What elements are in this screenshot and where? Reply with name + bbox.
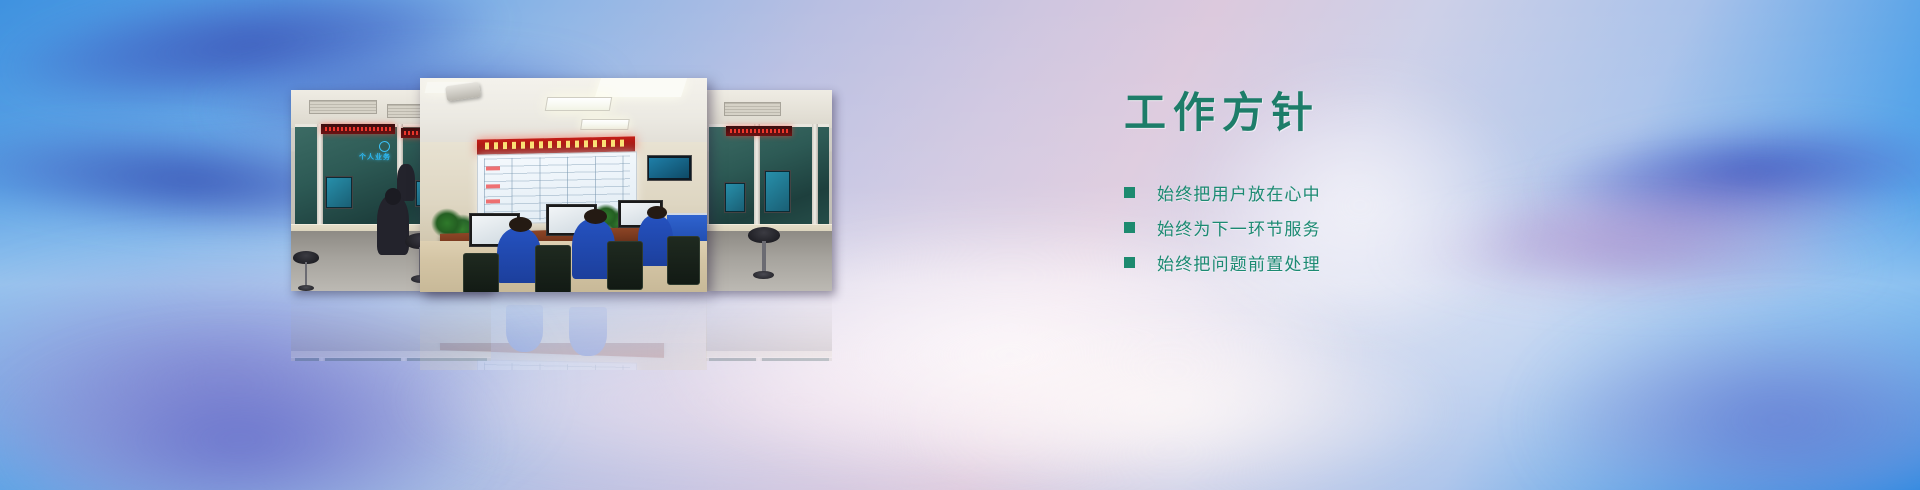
bank-counter-scene [706,90,832,291]
board-tag [486,166,500,170]
operator-head [509,217,532,232]
policy-text: 始终把问题前置处理 [1157,250,1321,275]
photo-dispatch-control-room[interactable] [420,78,707,292]
window-mullion [317,124,323,229]
bullet-square-icon [1124,257,1135,268]
hero-text-panel: 工作方针 始终把用户放在心中 始终为下一环节服务 始终把问题前置处理 [1124,92,1604,280]
control-room-scene [420,78,707,292]
customer-head [385,188,401,204]
window-mullion [754,124,760,229]
hero-banner: 个人业务 个人业务 [0,0,1920,490]
operator-head [647,206,667,219]
photo-bank-service-counter-right[interactable] [706,90,832,291]
photo-reflection-right [706,291,832,361]
policy-text: 始终为下一环节服务 [1157,215,1321,240]
ceiling-light-panel [580,119,629,130]
ceiling-vent [309,100,377,114]
office-chair [667,236,701,285]
wall-monitor [647,155,692,181]
teller-monitor [764,170,791,212]
photo-reflection-center [420,292,707,370]
board-tag [486,184,500,188]
policy-list: 始终把用户放在心中 始终为下一环节服务 始终把问题前置处理 [1124,175,1604,279]
list-item: 始终把用户放在心中 [1124,175,1604,209]
ceiling-vent [724,102,781,116]
page-title: 工作方针 [1124,92,1604,134]
led-scroll-sign [726,126,792,136]
counter-sign-label: 个人业务 [359,152,391,162]
teller-monitor [724,182,746,212]
list-item: 始终为下一环节服务 [1124,210,1604,244]
counter-stool [293,251,319,291]
skylight [595,78,687,97]
office-chair [535,245,571,292]
counter-stool [748,227,781,279]
ceiling-light-panel [545,97,613,111]
photo-gallery: 个人业务 个人业务 [0,0,1920,490]
window-mullion [812,124,818,229]
bullet-square-icon [1124,187,1135,198]
teller-monitor [325,176,353,208]
office-chair [463,253,499,292]
led-scroll-sign [321,124,395,134]
policy-text: 始终把用户放在心中 [1157,180,1321,205]
list-item: 始终把问题前置处理 [1124,245,1604,279]
operator-head [584,209,607,224]
board-tag [486,199,500,203]
office-chair [607,241,643,290]
bullet-square-icon [1124,222,1135,233]
